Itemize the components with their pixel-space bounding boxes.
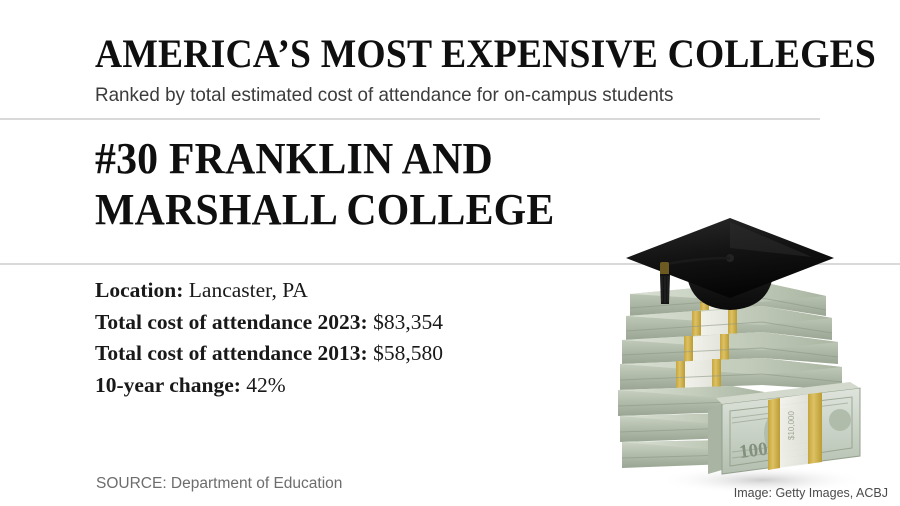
detail-label: Total cost of attendance 2013:: [95, 341, 368, 365]
svg-text:$10,000: $10,000: [787, 411, 796, 440]
headline-line-2: MARSHALL COLLEGE: [95, 184, 665, 235]
detail-label: Location:: [95, 278, 183, 302]
tassel-knot: [660, 262, 669, 276]
page-title: AMERICA’S MOST EXPENSIVE COLLEGES: [95, 32, 809, 76]
detail-value: Lancaster, PA: [189, 278, 308, 302]
detail-list: Location: Lancaster, PA Total cost of at…: [95, 275, 655, 401]
detail-row-cost-2013: Total cost of attendance 2013: $58,580: [95, 338, 655, 370]
currency-band: [808, 392, 822, 464]
graduation-cap-money-photo: 100 $10,000: [612, 212, 900, 494]
money-bundle: [620, 358, 842, 390]
headline-line-1: #30 FRANKLIN AND: [95, 133, 665, 184]
header: AMERICA’S MOST EXPENSIVE COLLEGES Ranked…: [95, 32, 855, 108]
college-headline: #30 FRANKLIN AND MARSHALL COLLEGE: [95, 133, 665, 235]
detail-label: Total cost of attendance 2023:: [95, 310, 368, 334]
detail-row-location: Location: Lancaster, PA: [95, 275, 655, 307]
detail-row-ten-year-change: 10-year change: 42%: [95, 370, 655, 402]
detail-value: 42%: [246, 373, 285, 397]
image-credit: Image: Getty Images, ACBJ: [734, 486, 888, 500]
source-note: SOURCE: Department of Education: [96, 475, 342, 493]
divider-top: [0, 118, 820, 120]
infographic-card: AMERICA’S MOST EXPENSIVE COLLEGES Ranked…: [0, 0, 900, 506]
detail-label: 10-year change:: [95, 373, 241, 397]
page-subtitle: Ranked by total estimated cost of attend…: [95, 82, 828, 108]
detail-value: $83,354: [373, 310, 443, 334]
detail-row-cost-2023: Total cost of attendance 2023: $83,354: [95, 307, 655, 339]
money-stack-illustration: 100 $10,000: [612, 212, 900, 494]
detail-value: $58,580: [373, 341, 443, 365]
